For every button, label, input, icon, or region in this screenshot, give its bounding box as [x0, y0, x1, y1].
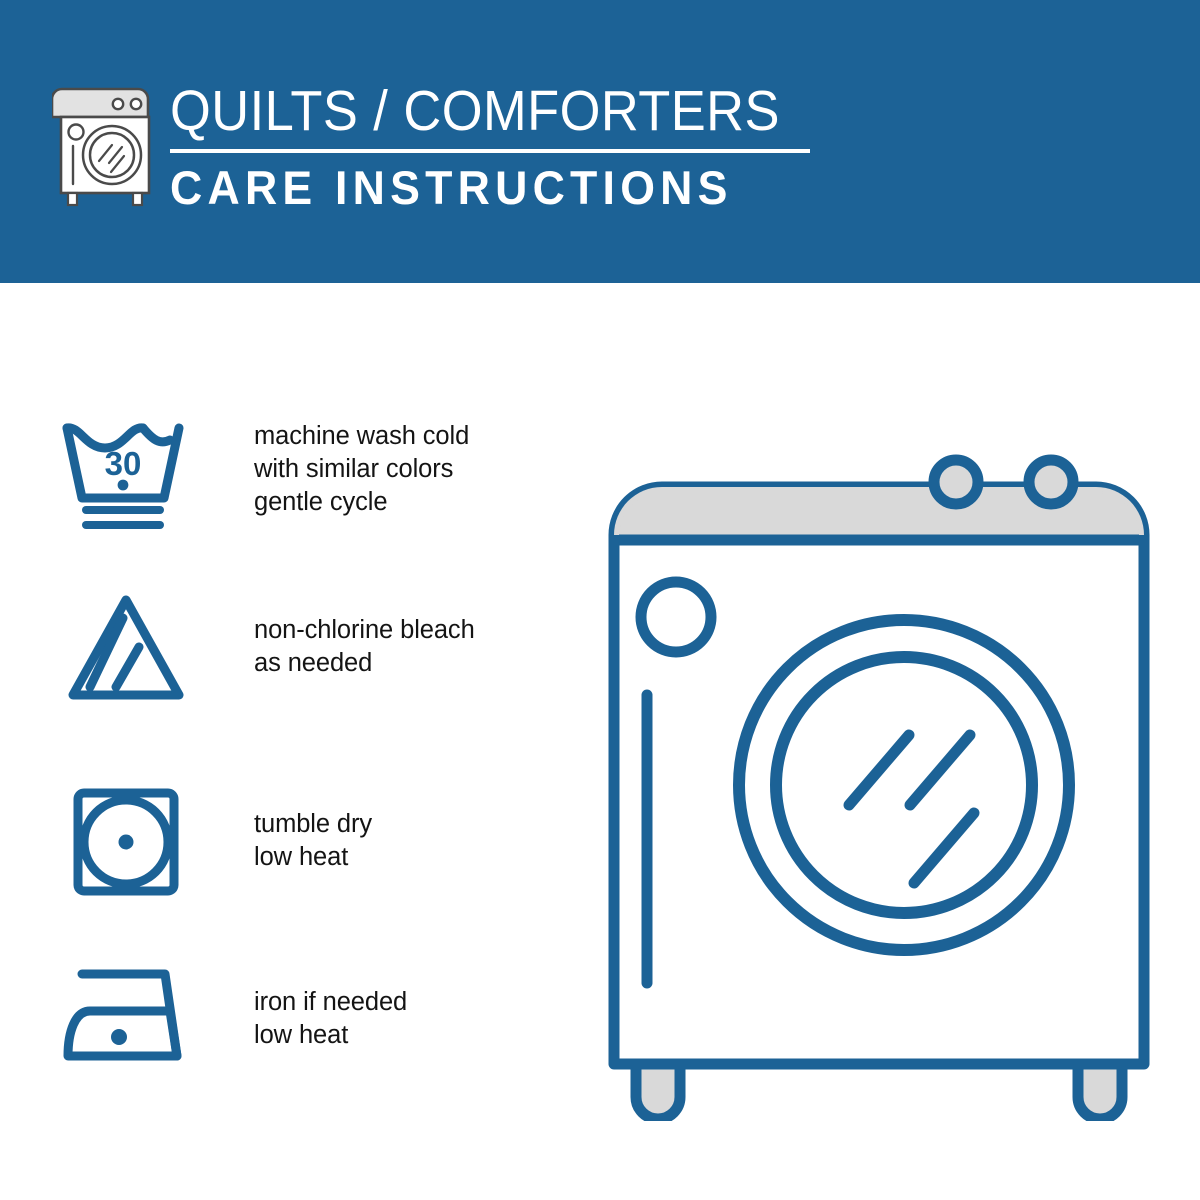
wash-temperature-label: 30 [105, 445, 142, 482]
care-text-machine-wash: machine wash cold with similar colors ge… [254, 418, 469, 519]
care-instructions-infographic: QUILTS / COMFORTERS CARE INSTRUCTIONS 30 [0, 0, 1200, 1200]
care-text-bleach: non-chlorine bleach as needed [254, 592, 475, 680]
iron-low-heat-icon [60, 958, 192, 1070]
knob-right [1029, 460, 1073, 504]
page-title: QUILTS / COMFORTERS [170, 80, 814, 142]
tumble-dry-low-heat-icon [60, 786, 192, 898]
non-chlorine-bleach-triangle-icon [60, 592, 192, 704]
detergent-dispenser-circle [641, 582, 711, 652]
front-load-washing-machine-illustration [596, 405, 1162, 1121]
care-row-tumble-dry: tumble dry low heat [60, 786, 580, 898]
washing-machine-icon [52, 83, 160, 209]
knob-left [934, 460, 978, 504]
care-row-iron: iron if needed low heat [60, 958, 580, 1070]
care-row-machine-wash: 30 machine wash cold with similar colors… [60, 418, 580, 536]
care-row-bleach: non-chlorine bleach as needed [60, 592, 580, 704]
page-subtitle: CARE INSTRUCTIONS [170, 162, 835, 214]
header-title-block: QUILTS / COMFORTERS CARE INSTRUCTIONS [170, 80, 870, 214]
door-inner-ring [776, 657, 1032, 913]
title-divider [170, 149, 810, 153]
care-text-tumble-dry: tumble dry low heat [254, 786, 372, 874]
care-text-iron: iron if needed low heat [254, 958, 407, 1052]
wash-tub-30-gentle-icon: 30 [60, 418, 192, 536]
header-band: QUILTS / COMFORTERS CARE INSTRUCTIONS [0, 0, 1200, 283]
